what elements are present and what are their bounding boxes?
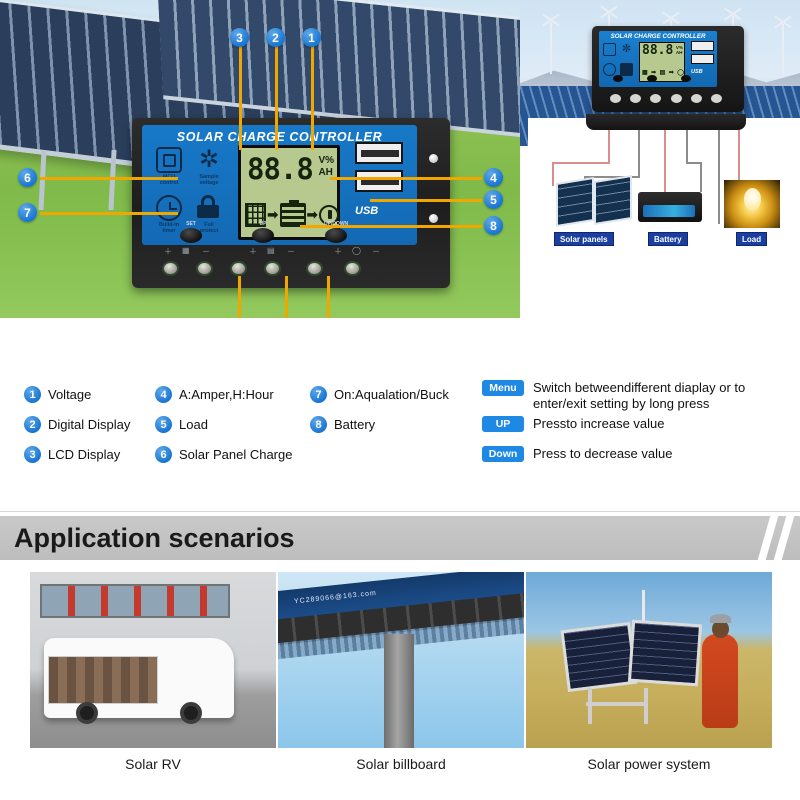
- field-solar-panel: [560, 622, 637, 692]
- clock-icon: [156, 195, 182, 221]
- inset-arrow-icon: ➡: [669, 69, 674, 76]
- legend-badge: 7: [310, 386, 327, 403]
- solar-charge-controller-device: SOLAR CHARGE CONTROLLER MCU control ✲ Sa…: [132, 118, 450, 288]
- key-desc-up: Pressto increase value: [533, 416, 665, 432]
- inset-lcd-unit-bottom: AH: [676, 50, 683, 55]
- legend-badge: 2: [24, 416, 41, 433]
- mini-solar-panel: [556, 177, 594, 227]
- inset-controller-photo: SOLAR CHARGE CONTROLLER 88.8 V% AH ▦ ➡ ▤…: [592, 26, 744, 112]
- rv-wheel: [180, 702, 202, 724]
- legend-badge: 6: [155, 446, 172, 463]
- battery-symbol: ▤: [267, 246, 275, 255]
- scene-solar-rv: [30, 572, 276, 748]
- key-desc-menu: Switch betweendifferent diaplay or to en…: [533, 380, 745, 412]
- inset-terminal-row: [610, 94, 722, 105]
- mini-battery: [638, 192, 702, 222]
- legend-item-2: 2 Digital Display: [24, 416, 130, 433]
- mounting-screw: [429, 154, 438, 163]
- legend-item-5: 5 Load: [155, 416, 208, 433]
- legend-badge: 5: [155, 416, 172, 433]
- callout-8: 8: [484, 216, 503, 235]
- lock-icon: [196, 195, 222, 221]
- person-figure: [702, 634, 738, 728]
- legend-item-8: 8 Battery: [310, 416, 375, 433]
- scene-caption-solar-billboard: Solar billboard: [278, 756, 524, 772]
- terminal-screw[interactable]: [162, 261, 179, 276]
- callout-5: 5: [484, 190, 503, 209]
- arrow-right-icon: ➡: [307, 207, 318, 223]
- gear-icon: ✲: [196, 147, 222, 173]
- lcd-digits: 88.8: [247, 153, 313, 185]
- billboard-text: YC289066@163.com: [294, 590, 377, 606]
- plus-symbol: ＋: [334, 246, 342, 257]
- feature-label: protect: [200, 228, 218, 234]
- legend-item-4: 4 A:Amper,H:Hour: [155, 386, 274, 403]
- panel-support-leg: [588, 688, 592, 724]
- legend-section: 1 Voltage 2 Digital Display 3 LCD Displa…: [0, 322, 800, 488]
- key-chip-down[interactable]: Down: [482, 446, 524, 462]
- wire-red: [552, 162, 610, 164]
- feature-label: voltage: [200, 180, 219, 186]
- leader-line: [330, 177, 482, 180]
- leader-line: [285, 276, 288, 318]
- inset-usb-port: [691, 54, 714, 64]
- panel-symbol: ▦: [182, 246, 190, 255]
- legend-label: Load: [179, 417, 208, 432]
- wiring-label-solar-panels: Solar panels: [554, 232, 614, 246]
- leader-line: [40, 177, 178, 180]
- mounting-screw: [429, 214, 438, 223]
- wire-gray: [686, 130, 688, 164]
- inset-usb-label: USB: [691, 69, 703, 75]
- inset-battery-icon: ▤: [660, 69, 666, 76]
- device-button-down[interactable]: [325, 228, 347, 243]
- battery-icon: [280, 203, 306, 227]
- lcd-unit-top: V%: [318, 155, 334, 167]
- feature-mcu-control: MCU control: [152, 147, 186, 186]
- legend-badge: 4: [155, 386, 172, 403]
- legend-label: Digital Display: [48, 417, 130, 432]
- leader-line: [238, 276, 241, 318]
- wire-gray: [700, 162, 702, 192]
- key-desc-down: Press to decrease value: [533, 446, 672, 462]
- feature-full-protect: Full protect: [192, 195, 226, 234]
- callout-3: 3: [230, 28, 249, 47]
- scene-caption-solar-rv: Solar RV: [30, 756, 276, 772]
- device-button-set[interactable]: [180, 228, 202, 243]
- rv-side-panel: [48, 656, 158, 704]
- inset-device-title: SOLAR CHARGE CONTROLLER: [599, 33, 717, 40]
- wiring-label-load: Load: [736, 232, 767, 246]
- legend-badge: 3: [24, 446, 41, 463]
- scene-caption-solar-power-system: Solar power system: [526, 756, 772, 772]
- section-divider: [0, 511, 800, 512]
- scene-solar-power-system: [526, 572, 772, 748]
- person-hat: [710, 614, 731, 623]
- windmill-icon: [550, 22, 552, 74]
- wire-red: [664, 130, 666, 192]
- wiring-diagram: Solar panels Battery Load: [528, 118, 800, 318]
- inset-button: [613, 75, 623, 82]
- legend-item-6: 6 Solar Panel Charge: [155, 446, 292, 463]
- leader-line: [40, 212, 178, 215]
- plus-symbol: ＋: [249, 246, 257, 257]
- key-legend-menu: Menu Switch betweendifferent diaplay or …: [482, 380, 745, 412]
- feature-sample-voltage: ✲ Sample voltage: [192, 147, 226, 186]
- leader-line: [239, 46, 242, 150]
- callout-7: 7: [18, 203, 37, 222]
- legend-item-7: 7 On:Aqualation/Buck: [310, 386, 449, 403]
- leader-line: [300, 225, 482, 228]
- key-desc-line2: enter/exit setting by long press: [533, 396, 709, 411]
- wire-gray: [718, 130, 720, 224]
- key-legend-up: UP Pressto increase value: [482, 416, 665, 432]
- inset-button: [647, 75, 657, 82]
- inset-lock-icon: [620, 63, 633, 76]
- feature-label: timer: [162, 228, 175, 234]
- wire-gray: [686, 162, 700, 164]
- callout-1: 1: [302, 28, 321, 47]
- inset-usb-port: [691, 41, 714, 51]
- device-button-set-label: SET: [179, 221, 203, 227]
- windmill-icon: [782, 24, 784, 74]
- key-chip-up[interactable]: UP: [482, 416, 524, 432]
- usb-label: USB: [355, 205, 417, 217]
- wiring-label-battery: Battery: [648, 232, 688, 246]
- minus-symbol: －: [287, 246, 295, 257]
- scene-solar-billboard: YC289066@163.com: [278, 572, 524, 748]
- wire-gray: [638, 130, 640, 176]
- legend-label: Battery: [334, 417, 375, 432]
- terminal-screw[interactable]: [230, 261, 247, 276]
- wire-red: [608, 130, 610, 164]
- inset-button: [681, 75, 691, 82]
- terminal-screw[interactable]: [196, 261, 213, 276]
- minus-symbol: －: [202, 246, 210, 257]
- leader-line: [311, 46, 314, 150]
- panel-support-bar: [586, 702, 648, 706]
- usb-ports[interactable]: [355, 142, 403, 194]
- key-chip-menu[interactable]: Menu: [482, 380, 524, 396]
- legend-label: Voltage: [48, 387, 91, 402]
- hero-product-section: SOLAR CHARGE CONTROLLER 88.8 V% AH ▦ ➡ ▤…: [0, 0, 800, 318]
- leader-line: [370, 199, 482, 202]
- callout-6: 6: [18, 168, 37, 187]
- callout-2: 2: [266, 28, 285, 47]
- terminal-screw[interactable]: [344, 261, 361, 276]
- legend-badge: 1: [24, 386, 41, 403]
- device-button-up[interactable]: [252, 228, 274, 243]
- legend-label: Solar Panel Charge: [179, 447, 292, 462]
- usb-port-a[interactable]: [355, 142, 403, 164]
- lamp-symbol: ◯: [352, 246, 361, 255]
- feature-label: control: [160, 180, 178, 186]
- terminal-screw[interactable]: [306, 261, 323, 276]
- legend-label: On:Aqualation/Buck: [334, 387, 449, 402]
- legend-label: A:Amper,H:Hour: [179, 387, 274, 402]
- inset-clock-icon: [603, 63, 616, 76]
- key-desc-line1: Switch betweendifferent diaplay or to: [533, 380, 745, 395]
- device-button-up-label: UP: [251, 221, 275, 227]
- lcd-units: V% AH: [318, 155, 334, 179]
- panel-support-leg: [644, 688, 648, 724]
- callout-4: 4: [484, 168, 503, 187]
- mini-solar-panel: [594, 175, 632, 225]
- mini-lamp-load: [724, 180, 780, 228]
- building-windows: [40, 584, 230, 618]
- wiring-controller: [586, 114, 746, 130]
- leader-line: [327, 276, 330, 318]
- key-legend-down: Down Press to decrease value: [482, 446, 672, 462]
- chip-icon: [156, 147, 182, 173]
- inset-panel-icon: ▦: [642, 69, 648, 76]
- terminal-screw[interactable]: [264, 261, 281, 276]
- plus-symbol: ＋: [164, 246, 172, 257]
- wire-red: [552, 162, 554, 186]
- legend-badge: 8: [310, 416, 327, 433]
- leader-line: [275, 46, 278, 150]
- field-solar-panel: [628, 620, 702, 687]
- legend-label: LCD Display: [48, 447, 120, 462]
- legend-item-1: 1 Voltage: [24, 386, 91, 403]
- minus-symbol: －: [372, 246, 380, 257]
- terminal-block: ＋ ▦ － ＋ ▤ － ＋ ◯ －: [154, 256, 424, 282]
- rv-body: [44, 638, 234, 718]
- billboard-pole: [384, 634, 414, 748]
- inset-chip-icon: [603, 43, 616, 56]
- application-heading: Application scenarios: [14, 523, 295, 554]
- rv-wheel: [76, 702, 98, 724]
- legend-item-3: 3 LCD Display: [24, 446, 120, 463]
- usb-port-b[interactable]: [355, 170, 403, 192]
- inset-gear-icon: ✼: [620, 43, 633, 56]
